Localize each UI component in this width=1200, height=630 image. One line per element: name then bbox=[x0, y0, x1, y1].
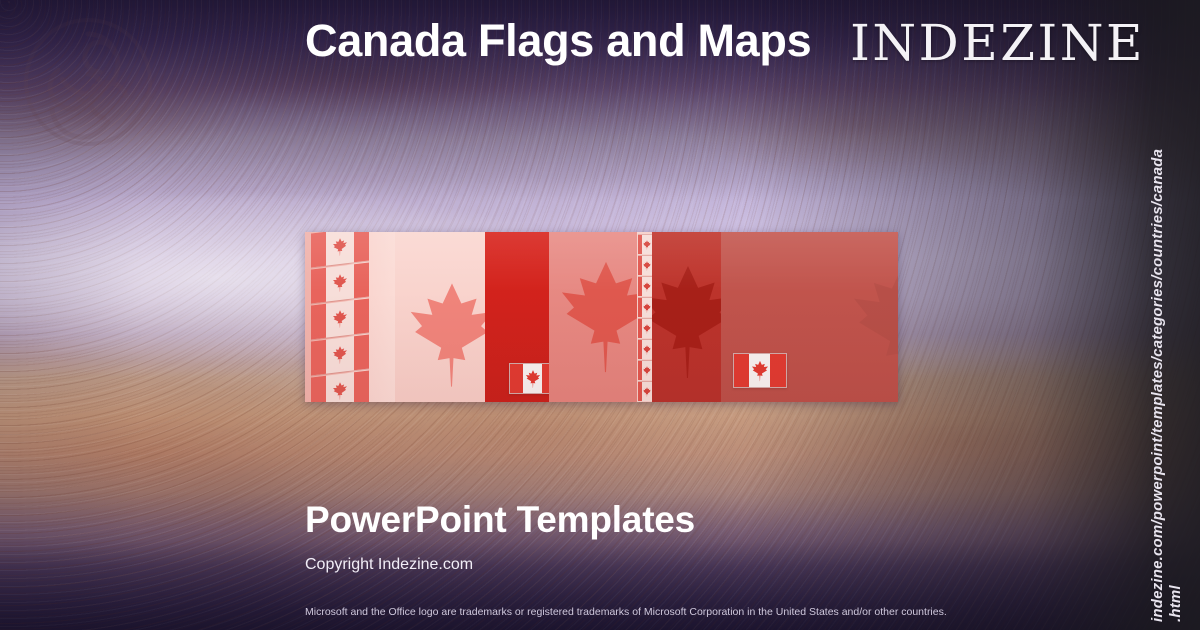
sidebar-url-line-2: .html bbox=[1167, 585, 1184, 622]
collage-panel-maple-leaf-flag bbox=[549, 232, 637, 402]
maple-leaf-icon bbox=[330, 236, 350, 258]
maple-leaf-icon bbox=[641, 344, 652, 355]
collage-panel-solid-red-band bbox=[485, 232, 550, 402]
collage-panel-mini-flag-strip bbox=[637, 232, 652, 402]
strip-flag bbox=[638, 297, 652, 317]
flag-collage bbox=[305, 232, 898, 402]
collage-panel-dark-red-leaf bbox=[652, 232, 721, 402]
page-title: Canada Flags and Maps bbox=[305, 16, 811, 66]
strip-flag bbox=[638, 255, 652, 275]
maple-leaf-icon bbox=[641, 365, 652, 376]
maple-leaf-icon bbox=[641, 323, 652, 334]
mini-flag bbox=[311, 370, 369, 402]
slide-canvas: Canada Flags and Maps INDEZINE bbox=[0, 0, 1200, 630]
maple-leaf-icon bbox=[395, 276, 485, 394]
maple-leaf-icon bbox=[330, 308, 350, 330]
maple-leaf-icon bbox=[833, 256, 898, 396]
maple-leaf-icon bbox=[330, 272, 350, 294]
collage-panel-muted-red-leaf bbox=[721, 232, 898, 402]
mini-flag-column bbox=[311, 232, 373, 402]
small-canada-flag bbox=[733, 353, 787, 388]
strip-flag bbox=[638, 234, 652, 254]
strip-flag bbox=[638, 276, 652, 296]
maple-leaf-icon bbox=[744, 359, 775, 382]
strip-flag bbox=[638, 318, 652, 338]
strip-flag bbox=[638, 360, 652, 380]
mini-flag bbox=[311, 334, 369, 375]
maple-leaf-icon bbox=[641, 281, 652, 292]
sidebar-url: indezine.com/powerpoint/templates/catego… bbox=[1152, 0, 1198, 630]
maple-leaf-icon bbox=[330, 344, 350, 366]
maple-leaf-icon bbox=[519, 368, 547, 388]
collage-panel-overlapping-mini-flags bbox=[305, 232, 395, 402]
maple-leaf-icon bbox=[641, 239, 652, 250]
small-canada-flag bbox=[509, 363, 550, 394]
collage-panel-pale-flag-with-leaf bbox=[395, 232, 485, 402]
maple-leaf-icon bbox=[549, 254, 637, 380]
maple-leaf-icon bbox=[330, 380, 350, 402]
maple-leaf-icon bbox=[641, 260, 652, 271]
strip-flag bbox=[638, 339, 652, 359]
mini-flag bbox=[311, 232, 369, 268]
maple-leaf-icon bbox=[652, 258, 721, 386]
brand-logo-indezine: INDEZINE bbox=[850, 14, 1145, 72]
maple-leaf-icon bbox=[641, 302, 652, 313]
mini-flag bbox=[311, 262, 369, 303]
maple-leaf-icon bbox=[641, 386, 652, 397]
copyright-text: Copyright Indezine.com bbox=[305, 556, 473, 574]
mini-flag bbox=[311, 298, 369, 339]
subtitle: PowerPoint Templates bbox=[305, 499, 695, 541]
trademark-disclaimer: Microsoft and the Office logo are tradem… bbox=[305, 606, 947, 618]
strip-flag bbox=[638, 381, 652, 401]
sidebar-url-line-1: indezine.com/powerpoint/templates/catego… bbox=[1149, 149, 1166, 622]
